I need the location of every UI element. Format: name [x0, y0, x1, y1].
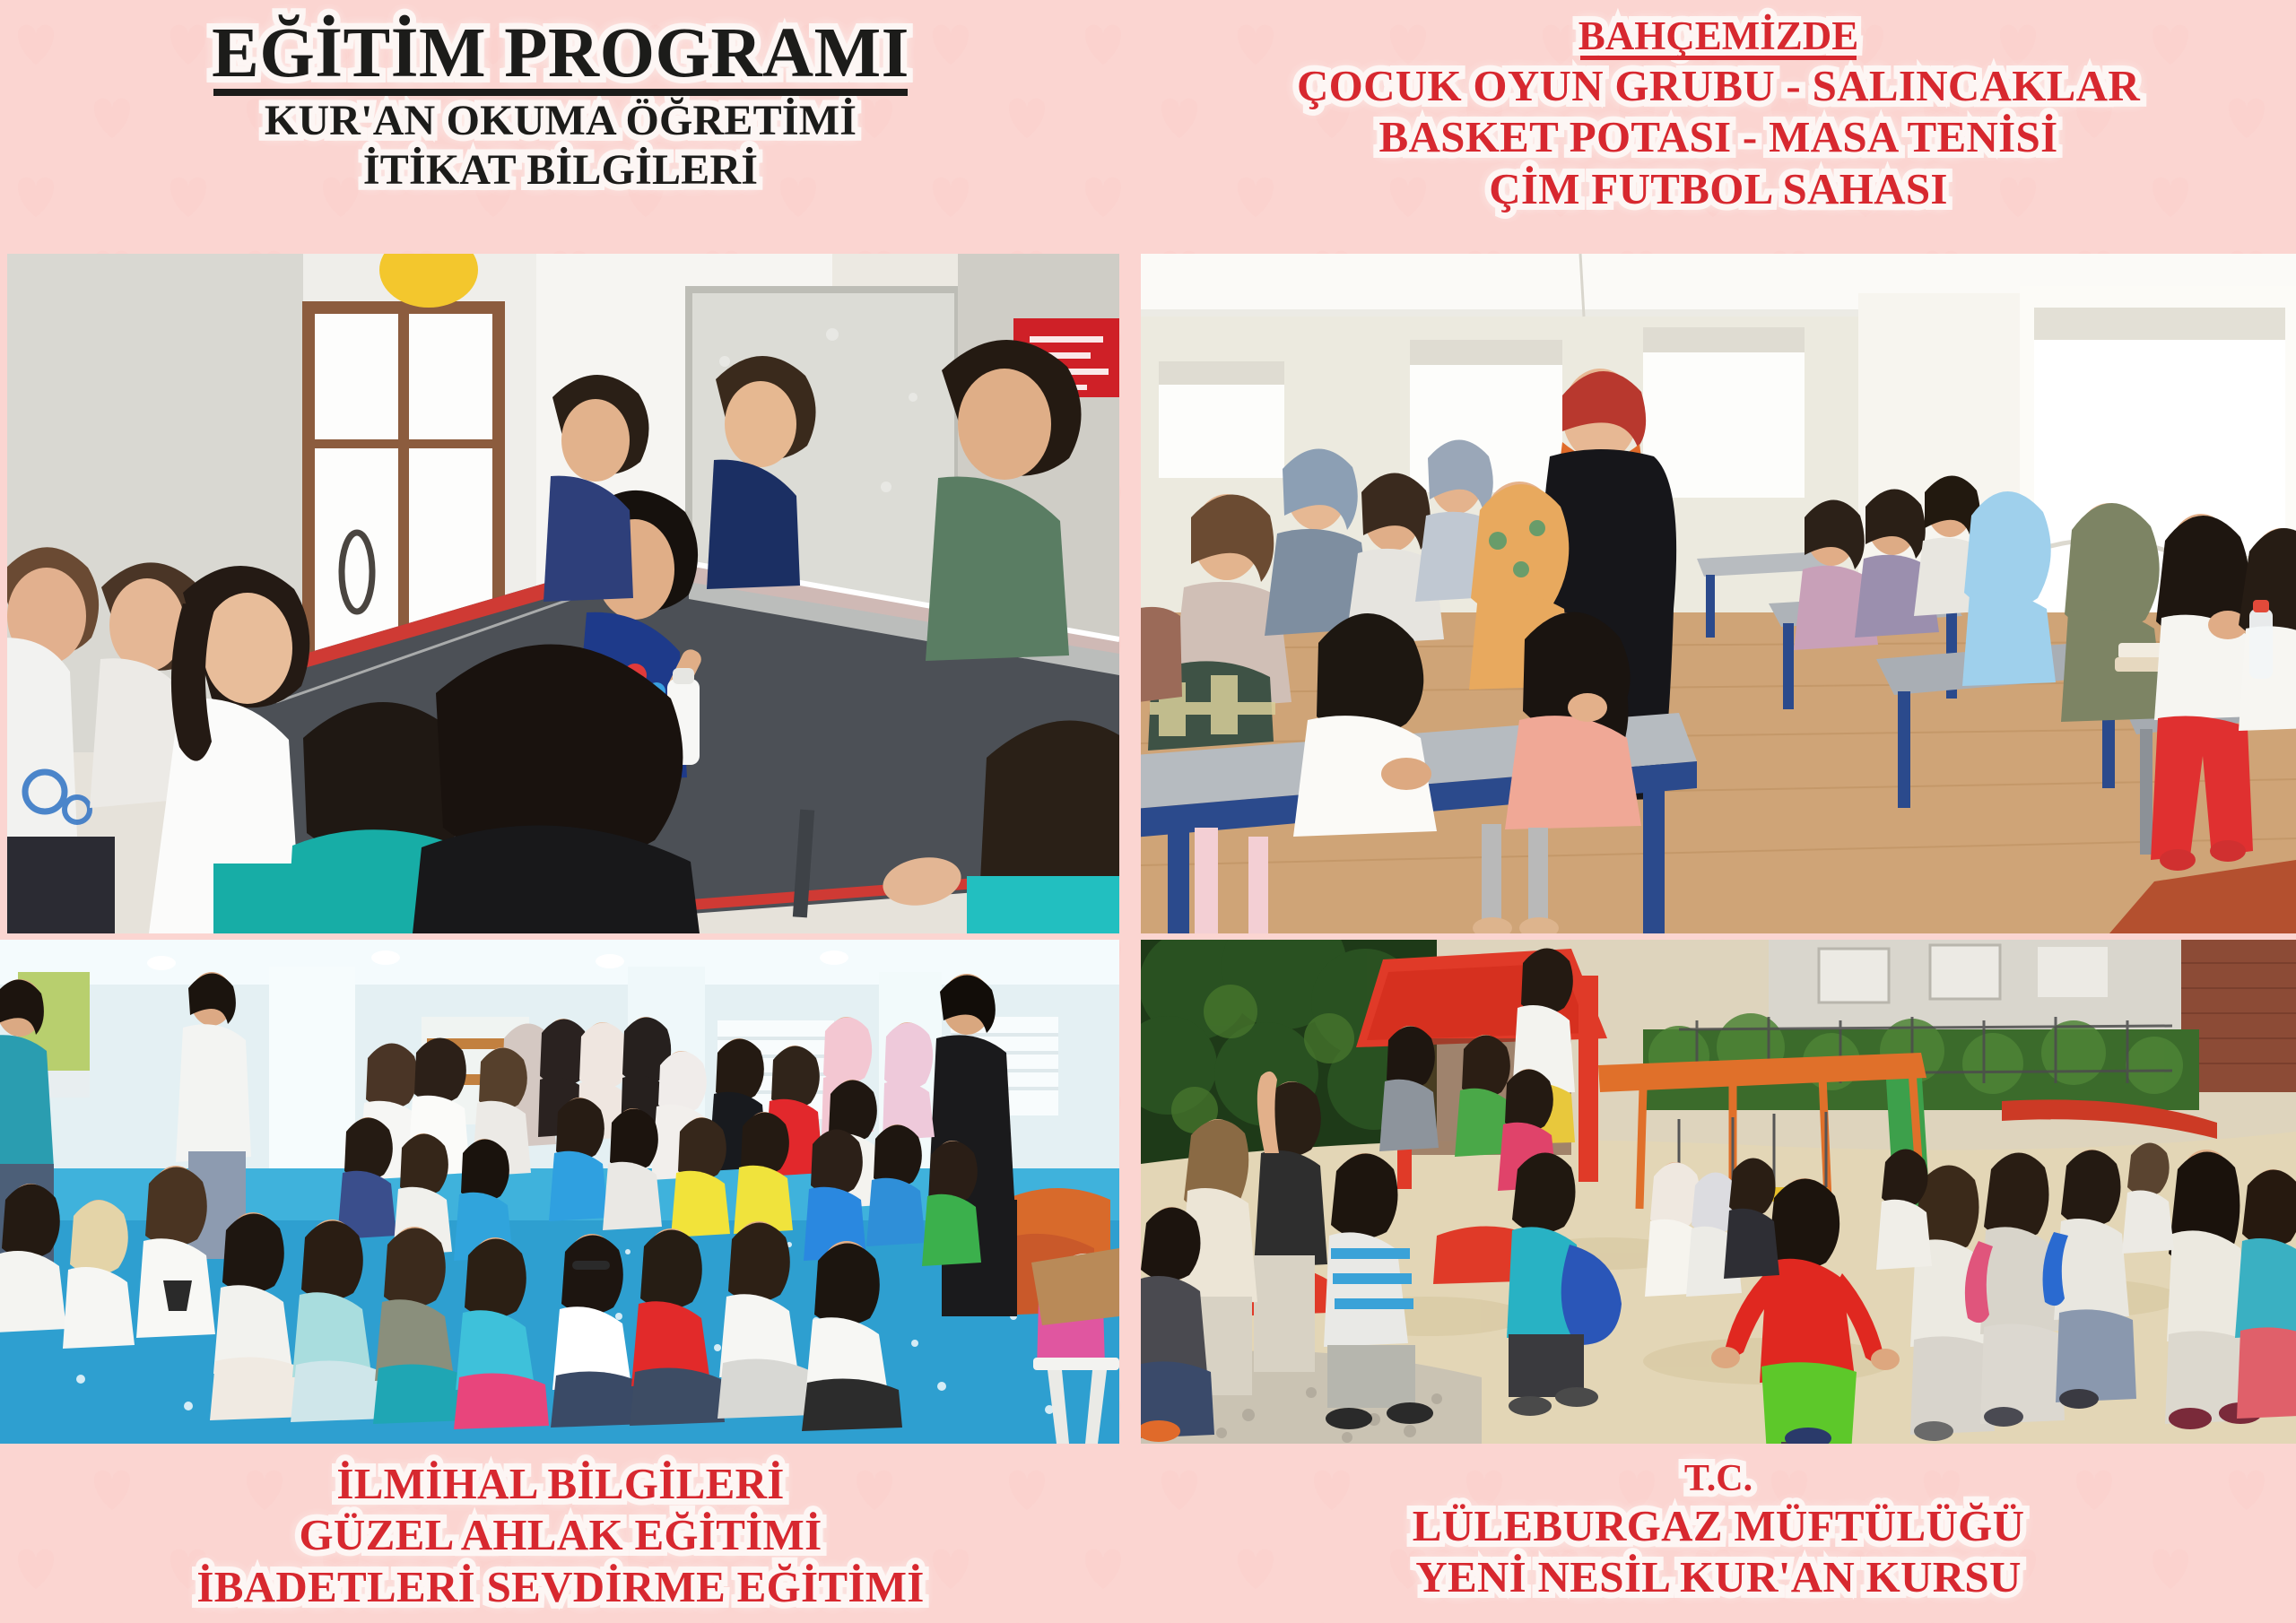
- header-right-line-1: ÇOCUK OYUN GRUBU - SALINCAKLAR: [1141, 60, 2296, 111]
- footer-right-line-2: LÜLEBURGAZ MÜFTÜLÜĞÜ: [1141, 1500, 2296, 1551]
- photo-top-left-image: [7, 254, 1119, 933]
- header-right-line-2: BASKET POTASI - MASA TENİSİ: [1141, 111, 2296, 162]
- footer-band: İLMİHAL BİLGİLERİ GÜZEL AHLAK EĞİTİMİ İB…: [0, 1444, 2296, 1623]
- footer-left-block: İLMİHAL BİLGİLERİ GÜZEL AHLAK EĞİTİMİ İB…: [0, 1458, 1121, 1612]
- footer-left-line-2: GÜZEL AHLAK EĞİTİMİ: [0, 1509, 1121, 1560]
- photo-bottom-right: [1141, 940, 2296, 1444]
- header-right-heading: BAHÇEMİZDE: [1578, 16, 1859, 60]
- poster-canvas: EĞİTİM PROGRAMI KUR'AN OKUMA ÖĞRETİMİ İT…: [0, 0, 2296, 1623]
- footer-right-line-3: YENİ NESİL KUR'AN KURSU: [1141, 1551, 2296, 1602]
- header-band: EĞİTİM PROGRAMI KUR'AN OKUMA ÖĞRETİMİ İT…: [0, 0, 2296, 254]
- footer-left-line-3: İBADETLERİ SEVDİRME EĞİTİMİ: [0, 1561, 1121, 1612]
- footer-right-line-1: T.C.: [1141, 1458, 2296, 1500]
- photo-bottom-left-image: [0, 940, 1119, 1444]
- header-right-heading-text: BAHÇEMİZDE: [1578, 13, 1859, 58]
- page-title: EĞİTİM PROGRAMI: [212, 16, 909, 96]
- page-title-text: EĞİTİM PROGRAMI: [212, 14, 909, 92]
- header-right-underline-rule: [1580, 56, 1857, 60]
- header-left-subtitle-1: KUR'AN OKUMA ÖĞRETİMİ: [0, 96, 1121, 146]
- photo-top-right-image: [1141, 254, 2296, 933]
- header-right-line-3: ÇİM FUTBOL SAHASI: [1141, 163, 2296, 214]
- photo-top-right: [1141, 254, 2296, 933]
- footer-left-line-1: İLMİHAL BİLGİLERİ: [0, 1458, 1121, 1509]
- photo-top-left: [7, 254, 1119, 933]
- footer-right-block: T.C. LÜLEBURGAZ MÜFTÜLÜĞÜ YENİ NESİL KUR…: [1141, 1458, 2296, 1603]
- photo-bottom-right-image: [1141, 940, 2296, 1444]
- header-right-block: BAHÇEMİZDE ÇOCUK OYUN GRUBU - SALINCAKLA…: [1141, 16, 2296, 214]
- header-left-subtitle-2: İTİKAT BİLGİLERİ: [0, 145, 1121, 195]
- title-underline-rule: [213, 89, 908, 96]
- header-left-block: EĞİTİM PROGRAMI KUR'AN OKUMA ÖĞRETİMİ İT…: [0, 16, 1121, 195]
- photo-bottom-left: [0, 940, 1119, 1444]
